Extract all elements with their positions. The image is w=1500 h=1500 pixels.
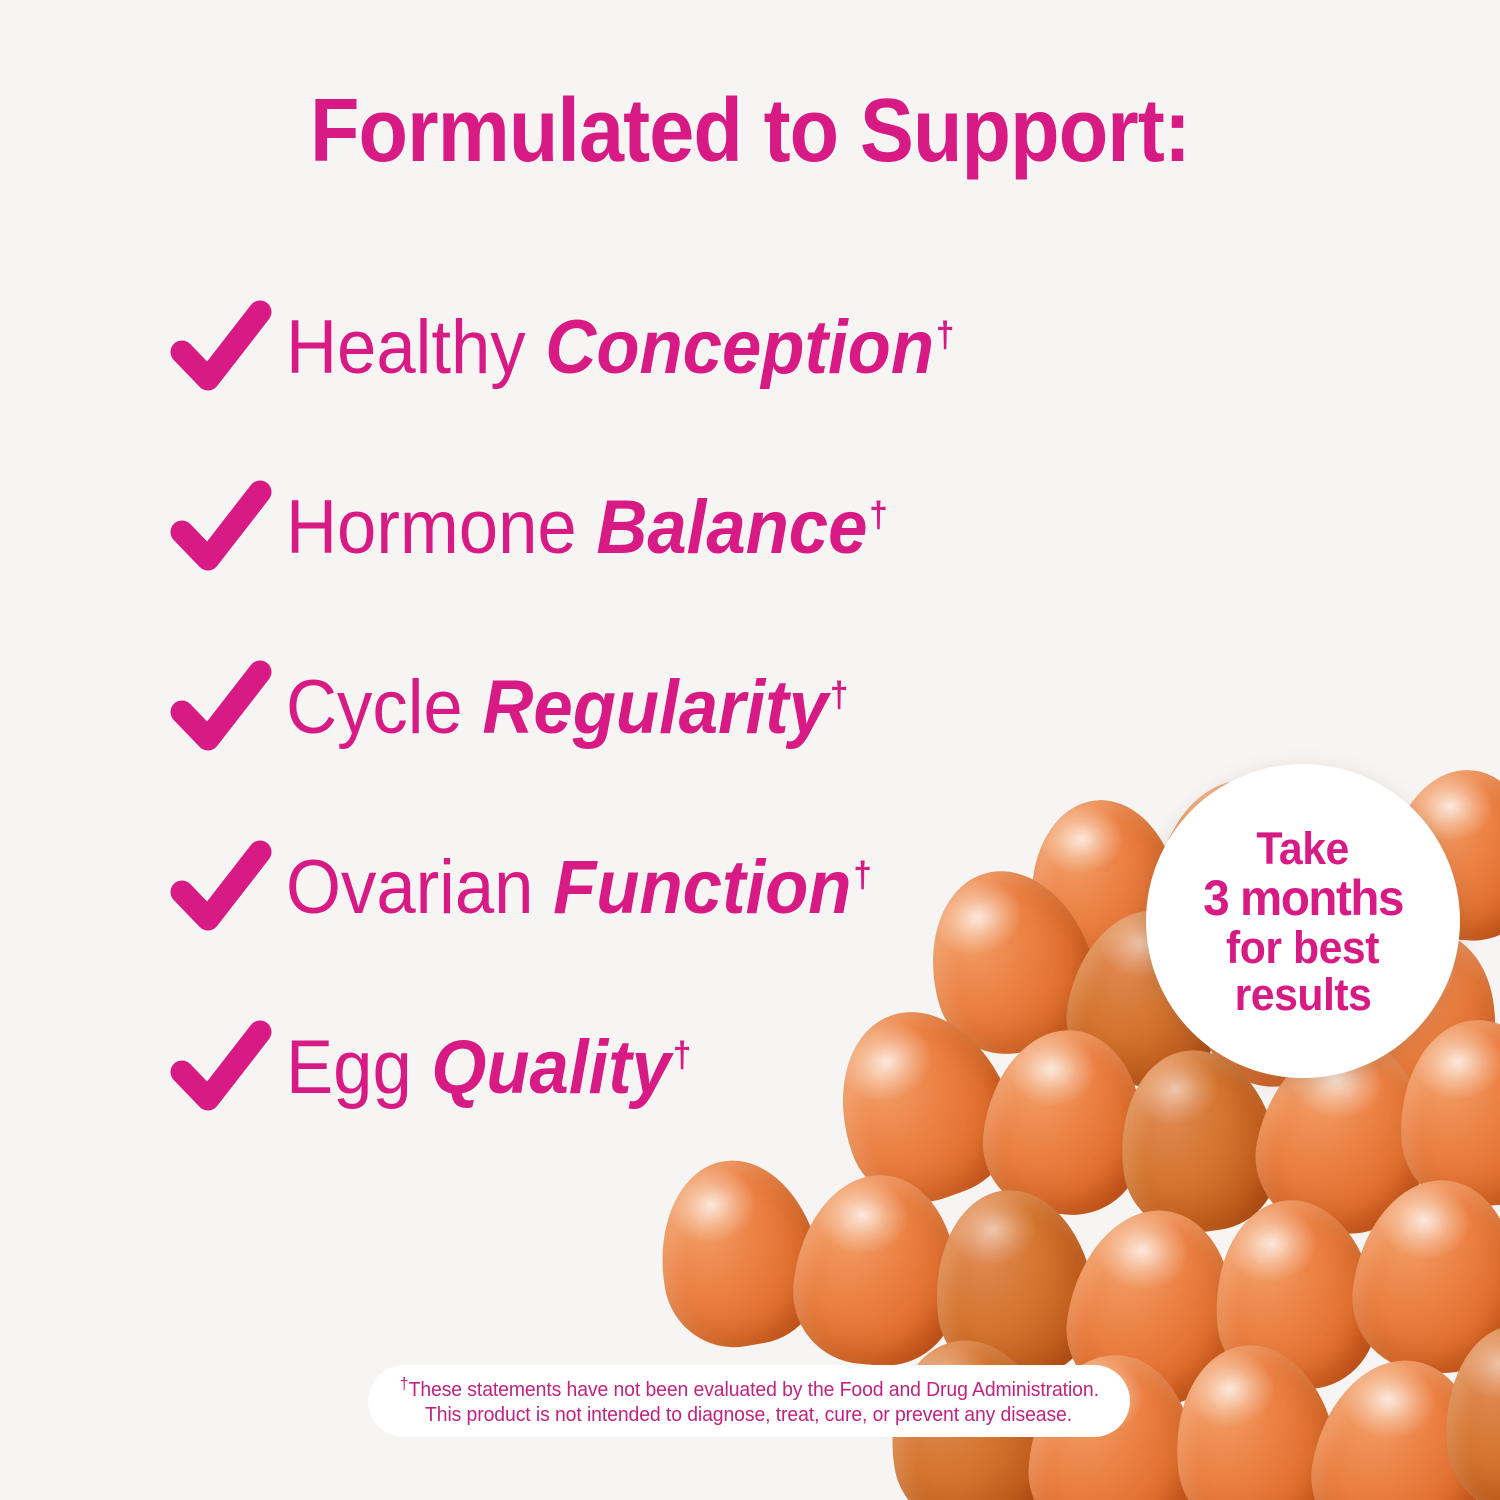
gummy <box>1164 1336 1346 1500</box>
list-item: Egg Quality† <box>168 1012 1228 1124</box>
gummy <box>787 1168 967 1372</box>
gummy <box>926 1182 1103 1385</box>
benefit-emphasis: Conception <box>545 305 934 390</box>
badge-line-4: results <box>1235 971 1372 1018</box>
benefit-emphasis: Regularity <box>482 665 828 750</box>
benefit-label: Egg Quality† <box>286 1030 691 1106</box>
badge-line-3: for best <box>1227 924 1380 971</box>
disclaimer-line-2: This product is not intended to diagnose… <box>425 1403 1072 1428</box>
list-item: Hormone Balance† <box>168 472 1228 584</box>
dagger-symbol: † <box>853 855 871 895</box>
disclaimer-text-1: These statements have not been evaluated… <box>408 1379 1098 1401</box>
benefit-label: Hormone Balance† <box>286 490 888 566</box>
gummy <box>1300 1347 1499 1500</box>
dagger-symbol: † <box>830 675 848 715</box>
benefit-list: Healthy Conception† Hormone Balance† Cyc… <box>168 292 1228 1192</box>
benefit-label: Healthy Conception† <box>286 310 954 386</box>
badge-line-1: Take <box>1257 825 1349 872</box>
dagger-symbol: † <box>673 1035 691 1075</box>
promo-badge: Take 3 months for best results <box>1146 764 1460 1078</box>
benefit-plain: Ovarian <box>286 845 553 930</box>
benefit-emphasis: Quality <box>431 1025 671 1110</box>
dagger-symbol: † <box>936 315 954 355</box>
benefit-plain: Egg <box>286 1025 431 1110</box>
benefit-emphasis: Function <box>553 845 851 930</box>
check-icon <box>168 840 274 936</box>
benefit-emphasis: Balance <box>596 485 867 570</box>
gummy <box>1395 1016 1500 1210</box>
list-item: Cycle Regularity† <box>168 652 1228 764</box>
page-title: Formulated to Support: <box>75 86 1425 176</box>
gummy <box>1207 1193 1383 1396</box>
disclaimer-line-1: †These statements have not been evaluate… <box>399 1374 1098 1403</box>
dagger-symbol: † <box>399 1375 408 1393</box>
disclaimer-banner: †These statements have not been evaluate… <box>368 1365 1130 1437</box>
product-benefits-graphic: Formulated to Support: Healthy Conceptio… <box>0 0 1500 1500</box>
check-icon <box>168 480 274 576</box>
dagger-symbol: † <box>869 495 887 535</box>
list-item: Ovarian Function† <box>168 832 1228 944</box>
benefit-plain: Hormone <box>286 485 596 570</box>
gummy <box>1344 1171 1500 1382</box>
check-icon <box>168 1020 274 1116</box>
benefit-plain: Cycle <box>286 665 482 750</box>
gummy <box>1439 1320 1500 1500</box>
benefit-label: Cycle Regularity† <box>286 670 848 746</box>
benefit-label: Ovarian Function† <box>286 850 872 926</box>
benefit-plain: Healthy <box>286 305 545 390</box>
check-icon <box>168 300 274 396</box>
list-item: Healthy Conception† <box>168 292 1228 404</box>
check-icon <box>168 660 274 756</box>
badge-line-2: 3 months <box>1203 872 1403 924</box>
